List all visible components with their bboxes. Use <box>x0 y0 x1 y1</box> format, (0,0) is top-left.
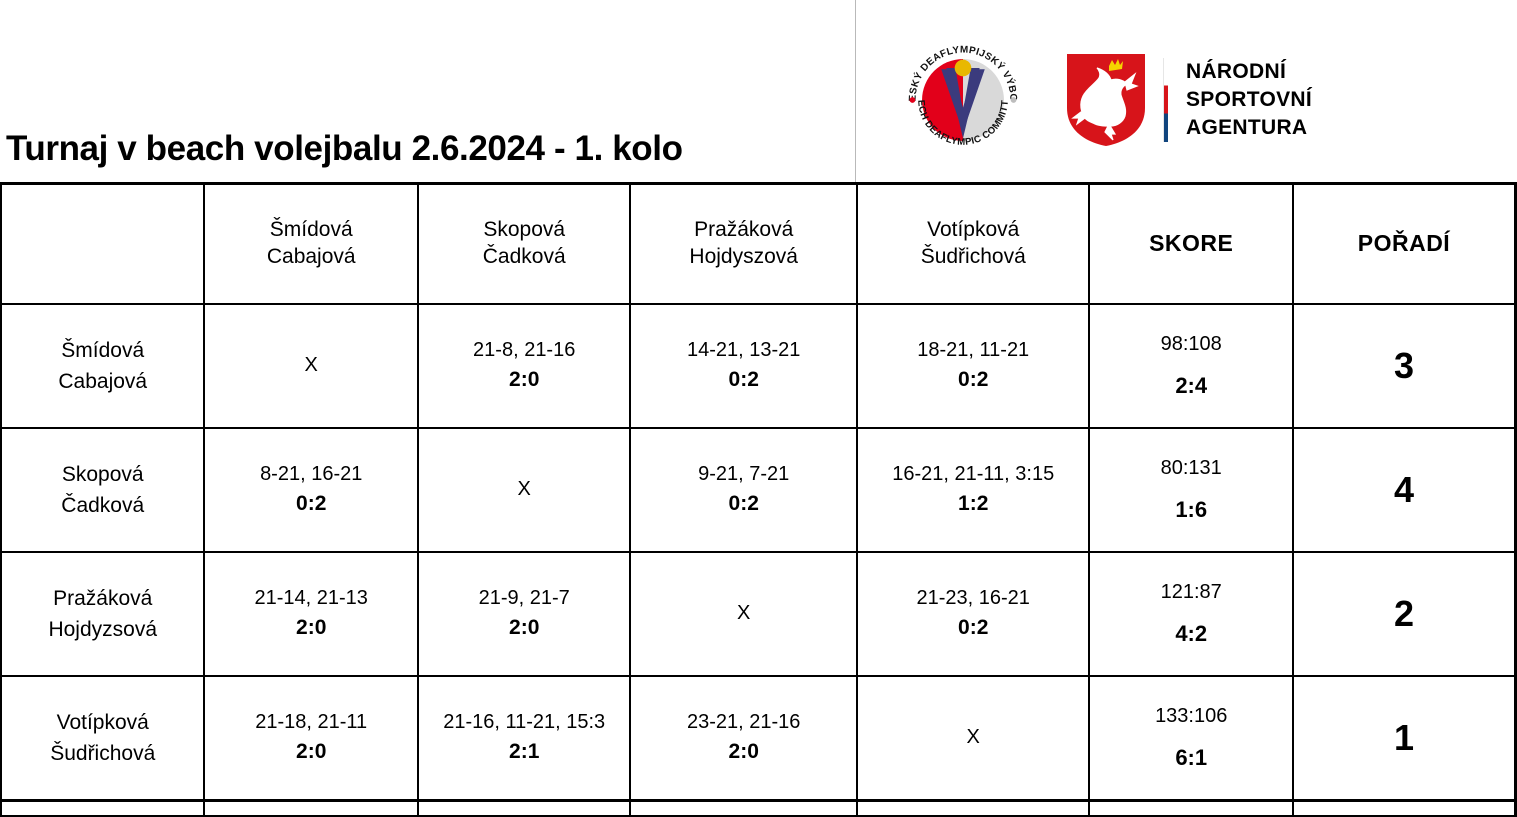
table-row: Votípková Šudřichová 21-18, 21-11 2:0 21… <box>1 676 1516 801</box>
score-points: 133:106 <box>1094 704 1287 730</box>
score-sets: 1:6 <box>1094 496 1287 524</box>
match-sets: 14-21, 13-21 <box>635 338 852 364</box>
rank-cell: 4 <box>1293 428 1516 552</box>
match-cell: 21-14, 21-13 2:0 <box>204 552 417 676</box>
document-header: Turnaj v beach volejbalu 2.6.2024 - 1. k… <box>0 0 1517 182</box>
match-result: 2:0 <box>209 739 412 766</box>
match-cell-self: X <box>418 428 630 552</box>
match-cell: 23-21, 21-16 2:0 <box>630 676 857 801</box>
page-title: Turnaj v beach volejbalu 2.6.2024 - 1. k… <box>6 131 683 166</box>
match-cell: 16-21, 21-11, 3:15 1:2 <box>857 428 1090 552</box>
table-row-clipped <box>1 801 1516 817</box>
header-col-team-4-line2: Šudřichová <box>862 244 1085 271</box>
clipped-cell <box>1293 801 1516 817</box>
match-result: 2:0 <box>423 367 625 394</box>
clipped-cell <box>418 801 630 817</box>
header-col-team-1-line2: Cabajová <box>209 244 412 271</box>
row-label-team-2-line1: Skopová <box>6 459 199 491</box>
match-cell: 14-21, 13-21 0:2 <box>630 304 857 428</box>
match-result: 0:2 <box>209 491 412 518</box>
match-sets: 21-9, 21-7 <box>423 586 625 612</box>
row-label-team-3-line2: Hojdyzsová <box>6 614 199 646</box>
score-points: 80:131 <box>1094 456 1287 482</box>
czech-lion-shield-icon <box>1065 52 1147 148</box>
standings-table: Šmídová Cabajová Skopová Čadková Pražáko… <box>0 182 1517 817</box>
match-result: 2:0 <box>209 615 412 642</box>
match-cell: 21-16, 11-21, 15:3 2:1 <box>418 676 630 801</box>
score-sets: 2:4 <box>1094 372 1287 400</box>
table-row: Šmídová Cabajová X 21-8, 21-16 2:0 14-21… <box>1 304 1516 428</box>
header-col-team-2-line1: Skopová <box>423 217 625 244</box>
score-points: 98:108 <box>1094 332 1287 358</box>
match-cell: 9-21, 7-21 0:2 <box>630 428 857 552</box>
header-col-team-1-line1: Šmídová <box>209 217 412 244</box>
match-sets: 8-21, 16-21 <box>209 462 412 488</box>
rank-cell: 2 <box>1293 552 1516 676</box>
row-label-team-2-line2: Čadková <box>6 490 199 522</box>
score-points: 121:87 <box>1094 580 1287 606</box>
clipped-cell <box>630 801 857 817</box>
rank-cell: 3 <box>1293 304 1516 428</box>
header-col-team-1: Šmídová Cabajová <box>204 184 417 305</box>
match-result: 0:2 <box>862 615 1085 642</box>
table-row: Pražáková Hojdyzsová 21-14, 21-13 2:0 21… <box>1 552 1516 676</box>
match-cell: 21-9, 21-7 2:0 <box>418 552 630 676</box>
match-sets: 21-18, 21-11 <box>209 710 412 736</box>
nsa-wordmark: NÁRODNÍ SPORTOVNÍ AGENTURA <box>1186 58 1312 141</box>
header-col-team-2: Skopová Čadková <box>418 184 630 305</box>
match-sets: 21-14, 21-13 <box>209 586 412 612</box>
match-sets: 21-16, 11-21, 15:3 <box>423 710 625 736</box>
header-col-score: SKORE <box>1089 184 1292 305</box>
match-cell: 21-18, 21-11 2:0 <box>204 676 417 801</box>
header-col-team-4: Votípková Šudřichová <box>857 184 1090 305</box>
header-col-team-4-line1: Votípková <box>862 217 1085 244</box>
tricolor-divider <box>1163 58 1168 142</box>
logo-group: ČESKÝ DEAFLYMPIJSKÝ VÝBOR CZECH DEAFLYMP… <box>899 36 1312 164</box>
header-col-team-3-line2: Hojdyszová <box>635 244 852 271</box>
header-col-team-3-line1: Pražáková <box>635 217 852 244</box>
clipped-cell <box>857 801 1090 817</box>
header-col-rank: POŘADÍ <box>1293 184 1516 305</box>
nsa-line-1: NÁRODNÍ <box>1186 58 1312 86</box>
header-col-team-3: Pražáková Hojdyszová <box>630 184 857 305</box>
match-result: 0:2 <box>635 367 852 394</box>
row-label-team-3-line1: Pražáková <box>6 583 199 615</box>
rank-value: 1 <box>1394 717 1414 758</box>
clipped-cell <box>204 801 417 817</box>
nsa-line-3: AGENTURA <box>1186 114 1312 142</box>
match-sets: 9-21, 7-21 <box>635 462 852 488</box>
row-label-team-1-line1: Šmídová <box>6 335 199 367</box>
match-sets: 21-23, 16-21 <box>862 586 1085 612</box>
match-cell: 21-23, 16-21 0:2 <box>857 552 1090 676</box>
match-result: 0:2 <box>862 367 1085 394</box>
row-label-team-4-line1: Votípková <box>6 707 199 739</box>
score-cell: 133:106 6:1 <box>1089 676 1292 801</box>
x-mark: X <box>967 726 980 748</box>
match-cell: 21-8, 21-16 2:0 <box>418 304 630 428</box>
x-mark: X <box>737 602 750 624</box>
rank-value: 4 <box>1394 469 1414 510</box>
score-cell: 98:108 2:4 <box>1089 304 1292 428</box>
nsa-line-2: SPORTOVNÍ <box>1186 86 1312 114</box>
match-result: 2:0 <box>423 615 625 642</box>
match-cell: 18-21, 11-21 0:2 <box>857 304 1090 428</box>
match-cell-self: X <box>857 676 1090 801</box>
row-label-team-4-line2: Šudřichová <box>6 738 199 770</box>
rank-value: 3 <box>1394 345 1414 386</box>
match-cell-self: X <box>630 552 857 676</box>
narodni-sportovni-agentura-logo: NÁRODNÍ SPORTOVNÍ AGENTURA <box>1065 52 1312 148</box>
match-cell-self: X <box>204 304 417 428</box>
table-header-row: Šmídová Cabajová Skopová Čadková Pražáko… <box>1 184 1516 305</box>
header-col-team-2-line2: Čadková <box>423 244 625 271</box>
header-col-rank-label: POŘADÍ <box>1358 230 1450 256</box>
clipped-cell <box>1089 801 1292 817</box>
match-sets: 16-21, 21-11, 3:15 <box>862 462 1085 488</box>
match-result: 1:2 <box>862 491 1085 518</box>
x-mark: X <box>305 354 318 376</box>
rank-cell: 1 <box>1293 676 1516 801</box>
match-sets: 18-21, 11-21 <box>862 338 1085 364</box>
table-row: Skopová Čadková 8-21, 16-21 0:2 X 9-21, … <box>1 428 1516 552</box>
score-cell: 121:87 4:2 <box>1089 552 1292 676</box>
rank-value: 2 <box>1394 593 1414 634</box>
match-sets: 21-8, 21-16 <box>423 338 625 364</box>
row-label-team-1: Šmídová Cabajová <box>1 304 204 428</box>
match-result: 2:1 <box>423 739 625 766</box>
match-sets: 23-21, 21-16 <box>635 710 852 736</box>
row-label-team-4: Votípková Šudřichová <box>1 676 204 801</box>
score-cell: 80:131 1:6 <box>1089 428 1292 552</box>
header-col-score-label: SKORE <box>1149 230 1233 256</box>
x-mark: X <box>518 478 531 500</box>
clipped-cell <box>1 801 204 817</box>
czech-deaflympic-committee-logo: ČESKÝ DEAFLYMPIJSKÝ VÝBOR CZECH DEAFLYMP… <box>899 36 1027 164</box>
score-sets: 6:1 <box>1094 744 1287 772</box>
row-label-team-2: Skopová Čadková <box>1 428 204 552</box>
match-result: 2:0 <box>635 739 852 766</box>
match-cell: 8-21, 16-21 0:2 <box>204 428 417 552</box>
row-label-team-1-line2: Cabajová <box>6 366 199 398</box>
score-sets: 4:2 <box>1094 620 1287 648</box>
header-corner-cell <box>1 184 204 305</box>
row-label-team-3: Pražáková Hojdyzsová <box>1 552 204 676</box>
match-result: 0:2 <box>635 491 852 518</box>
